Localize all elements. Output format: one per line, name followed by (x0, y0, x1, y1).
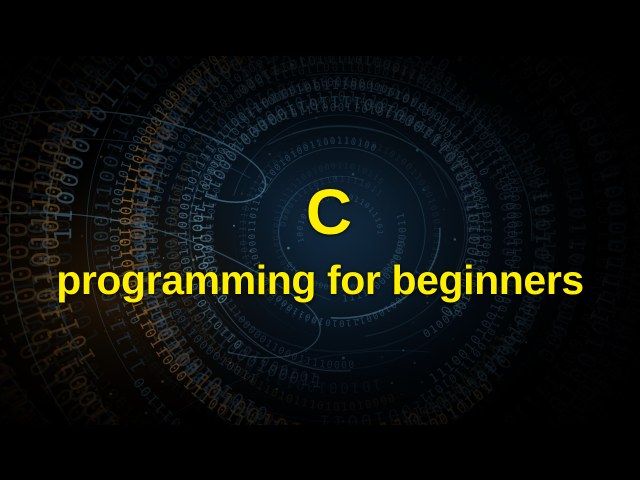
letterbox-bar-bottom (0, 425, 640, 480)
title-subtitle: programming for beginners (56, 260, 584, 301)
video-slide: 1110111110011100011010110001010010101000… (0, 0, 640, 480)
title-main: C (306, 180, 352, 244)
letterbox-bar-top (0, 0, 640, 56)
